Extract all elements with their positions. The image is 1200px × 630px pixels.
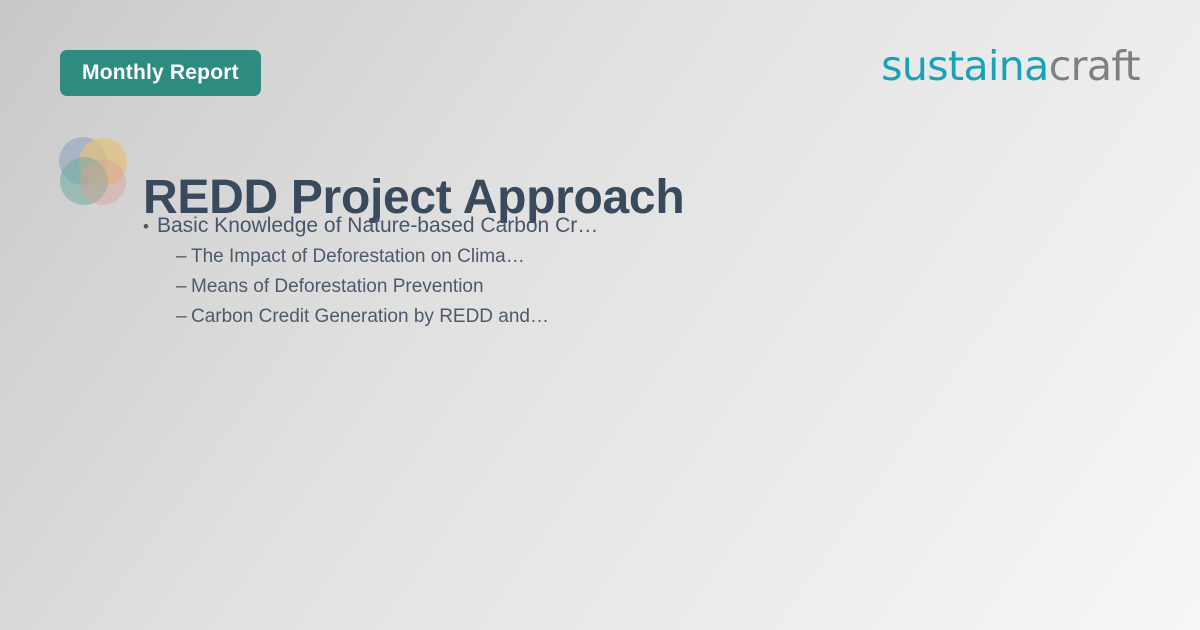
outline-item-level2: – Means of Deforestation Prevention [176,272,598,302]
sustainacraft-logo: sustainacraft [881,46,1140,87]
dash-marker-icon: – [176,242,191,272]
dash-marker-icon: – [176,302,191,332]
report-cover-slide: Monthly Report sustainacraft REDD Projec… [0,0,1200,630]
outline-item-level2: – The Impact of Deforestation on Clima… [176,242,598,272]
bullet-marker-icon: • [143,218,157,235]
outline-sublist: – The Impact of Deforestation on Clima… … [176,242,598,332]
brand-secondary-text: craft [1049,42,1140,90]
dash-marker-icon: – [176,272,191,302]
pink-circle [80,159,126,205]
agenda-outline: • Basic Knowledge of Nature-based Carbon… [143,210,598,332]
outline-item-level1: • Basic Knowledge of Nature-based Carbon… [143,210,598,242]
outline-item-level2: – Carbon Credit Generation by REDD and… [176,302,598,332]
monthly-report-badge: Monthly Report [60,50,261,96]
outline-item-level2-label: Carbon Credit Generation by REDD and… [191,302,549,332]
venn-circles-svg [58,136,128,206]
outline-item-level2-label: The Impact of Deforestation on Clima… [191,242,525,272]
outline-item-level1-label: Basic Knowledge of Nature-based Carbon C… [157,210,598,242]
brand-primary-text: sustaina [881,42,1049,90]
three-overlapping-circles-icon [58,136,128,206]
badge-label: Monthly Report [82,61,239,85]
outline-item-level2-label: Means of Deforestation Prevention [191,272,484,302]
